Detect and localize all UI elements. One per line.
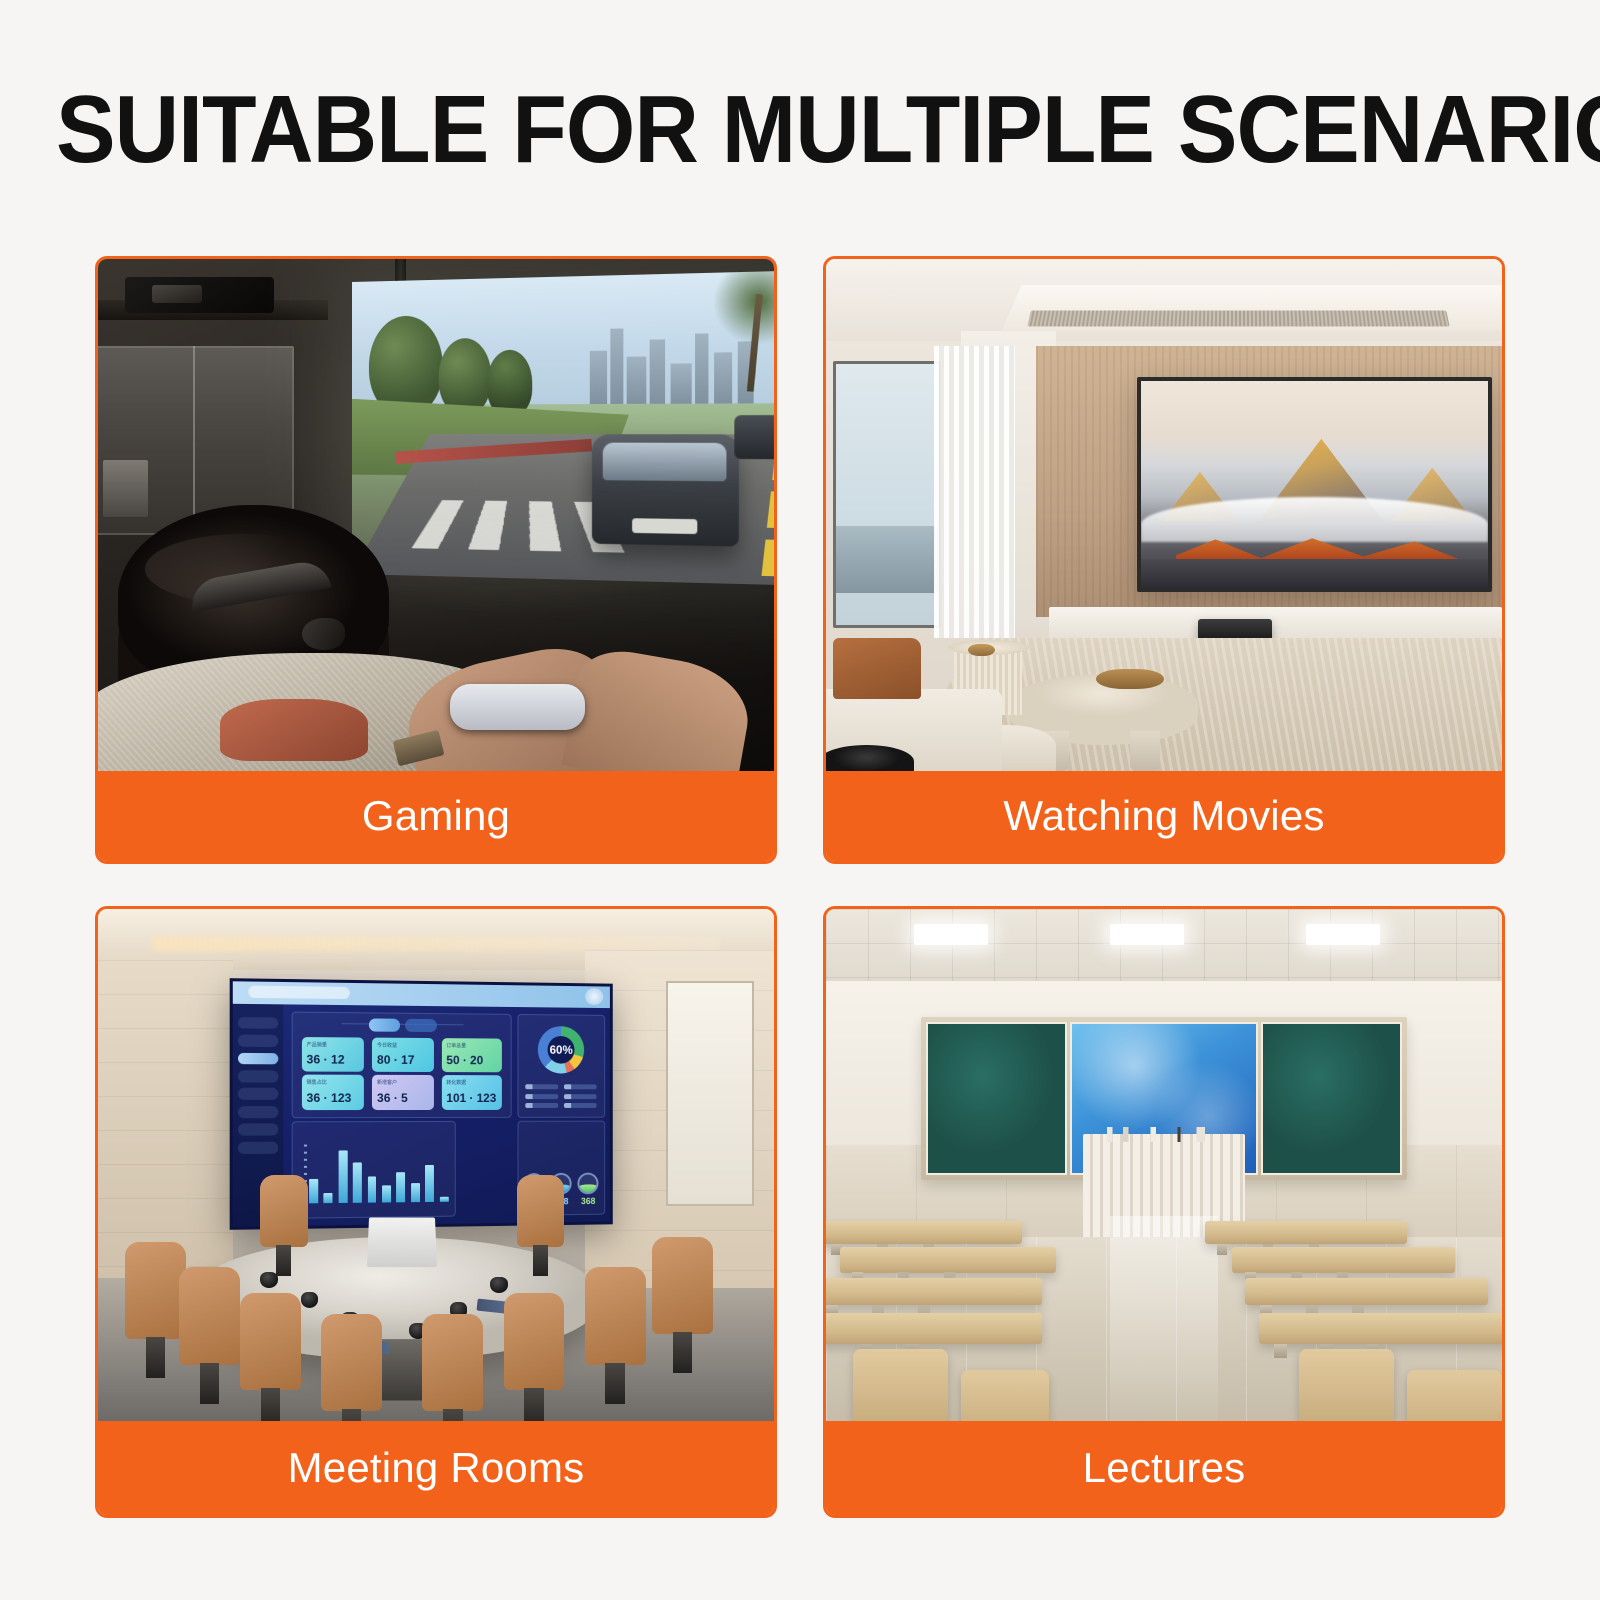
kpi-card: 转化数据 101 · 123 — [442, 1075, 503, 1110]
dashboard-avatar[interactable] — [585, 988, 603, 1004]
office-chair — [125, 1242, 186, 1339]
office-chair — [504, 1293, 565, 1390]
scenario-label-gaming: Gaming — [98, 771, 774, 861]
tab-inactive[interactable] — [406, 1018, 438, 1032]
bar — [397, 1172, 406, 1202]
kpi-value: 50 · 20 — [447, 1053, 484, 1067]
mug — [260, 1272, 278, 1288]
bar — [440, 1196, 449, 1202]
kpi-label: 销售占比 — [307, 1079, 327, 1086]
tab-active[interactable] — [369, 1018, 401, 1032]
kpi-card: 产品销量 36 · 12 — [302, 1036, 364, 1071]
bar — [339, 1150, 348, 1203]
living-room-scene — [826, 259, 1502, 771]
sheer-curtain — [934, 346, 1015, 638]
kpi-tabs[interactable] — [342, 1018, 464, 1033]
gaming-scene — [98, 259, 774, 771]
legend-entry — [564, 1093, 597, 1098]
office-chair — [585, 1267, 646, 1364]
game-player-car — [591, 434, 738, 546]
student-desk — [1259, 1313, 1502, 1344]
wall-console — [1049, 607, 1502, 643]
student-chair — [961, 1370, 1049, 1421]
classroom-scene — [826, 909, 1502, 1421]
kpi-card: 今日收益 80 · 17 — [372, 1037, 433, 1072]
kpi-grid: 产品销量 36 · 12 今日收益 80 · 17 订单总量 50 · 20 — [302, 1036, 503, 1109]
scenario-card-gaming[interactable]: Gaming — [95, 256, 777, 864]
student-chair — [853, 1349, 948, 1421]
sidebar-item[interactable] — [238, 1088, 279, 1100]
legend-entry — [525, 1093, 558, 1098]
ceiling-tiles — [826, 909, 1502, 991]
lecture-hall-photo — [826, 909, 1502, 1421]
scenario-card-watching-movies[interactable]: Watching Movies — [823, 256, 1505, 864]
legend-entry — [525, 1103, 558, 1108]
sidebar-item[interactable] — [238, 1123, 279, 1135]
bar — [309, 1179, 318, 1204]
kpi-value: 36 · 5 — [377, 1091, 408, 1105]
scenario-label-lectures: Lectures — [826, 1421, 1502, 1515]
student-desk — [840, 1247, 1056, 1273]
gauge-value: 368 — [578, 1196, 599, 1206]
left-wood-wall — [98, 960, 233, 1277]
black-side-table — [826, 745, 914, 771]
gaming-photo — [98, 259, 774, 771]
player-collar — [220, 699, 369, 760]
student-desk — [826, 1278, 1042, 1306]
donut-center-value: 60% — [550, 1043, 573, 1057]
foreground-ridge — [1141, 559, 1488, 588]
player-right-arm — [562, 644, 756, 771]
dashboard-search-input[interactable] — [249, 985, 350, 999]
kpi-card: 订单总量 50 · 20 — [442, 1037, 503, 1072]
meeting-room-scene: 产品销量 36 · 12 今日收益 80 · 17 订单总量 50 · 20 — [98, 909, 774, 1421]
ceiling-light — [1110, 924, 1184, 944]
dashboard-topbar — [233, 981, 610, 1007]
sidebar-item[interactable] — [238, 1141, 279, 1153]
decor-cup — [968, 644, 995, 656]
legend-entry — [564, 1103, 597, 1108]
shelf-object — [125, 277, 274, 313]
kpi-card: 新增客户 36 · 5 — [372, 1075, 433, 1110]
scenario-grid: Gaming — [95, 256, 1505, 1518]
sidebar-item-active[interactable] — [238, 1052, 279, 1064]
game-traffic-car — [733, 415, 774, 459]
ceiling-vent — [1027, 311, 1450, 327]
kpi-label: 订单总量 — [447, 1042, 467, 1049]
bar — [382, 1185, 391, 1203]
gauge: 368 — [578, 1172, 599, 1205]
scenario-card-meeting-rooms[interactable]: 产品销量 36 · 12 今日收益 80 · 17 订单总量 50 · 20 — [95, 906, 777, 1518]
sidebar-item[interactable] — [238, 1016, 279, 1028]
kpi-panel: 产品销量 36 · 12 今日收益 80 · 17 订单总量 50 · 20 — [292, 1011, 512, 1118]
leather-armchair — [833, 638, 921, 699]
meeting-room-window — [666, 981, 754, 1206]
meeting-room-photo: 产品销量 36 · 12 今日收益 80 · 17 订单总量 50 · 20 — [98, 909, 774, 1421]
kpi-label: 今日收益 — [377, 1041, 397, 1048]
donut-legend — [525, 1084, 597, 1111]
office-chair — [260, 1175, 307, 1247]
chalkboard-right — [1261, 1022, 1402, 1175]
bar-chart-panel — [292, 1120, 456, 1218]
student-desk — [826, 1313, 1042, 1344]
scenario-label-watching-movies: Watching Movies — [826, 771, 1502, 861]
bar — [368, 1176, 377, 1202]
kpi-label: 产品销量 — [307, 1041, 327, 1048]
sidebar-item[interactable] — [238, 1034, 279, 1046]
bar — [425, 1164, 434, 1202]
student-desk — [826, 1221, 1022, 1244]
gauge-orb — [578, 1172, 599, 1194]
kpi-value: 36 · 123 — [307, 1091, 352, 1105]
kpi-value: 80 · 17 — [377, 1053, 414, 1067]
student-desk — [1232, 1247, 1455, 1273]
office-chair — [652, 1237, 713, 1334]
podium-items — [1096, 1127, 1231, 1142]
kpi-card: 销售占比 36 · 123 — [302, 1074, 364, 1109]
bar — [411, 1183, 420, 1202]
office-chair — [422, 1314, 483, 1411]
donut-panel: 60% — [517, 1013, 605, 1117]
office-chair — [179, 1267, 240, 1364]
game-palm-tree — [700, 270, 774, 384]
donut-chart: 60% — [538, 1026, 584, 1074]
sidebar-item[interactable] — [238, 1106, 279, 1118]
legend-entry — [525, 1084, 558, 1089]
headset-microphone — [302, 618, 345, 651]
student-desk — [1245, 1278, 1488, 1306]
game-controller — [450, 684, 585, 730]
kpi-value: 36 · 12 — [307, 1052, 345, 1066]
center-aisle — [1110, 1216, 1218, 1421]
legend-entry — [564, 1084, 597, 1089]
office-chair — [321, 1314, 382, 1411]
bar — [324, 1193, 333, 1204]
sidebar-item[interactable] — [238, 1070, 279, 1082]
office-chair — [240, 1293, 301, 1390]
watching-movies-photo — [826, 259, 1502, 771]
student-chair — [1299, 1349, 1394, 1421]
picture-window — [833, 361, 941, 627]
scenario-label-meeting-rooms: Meeting Rooms — [98, 1421, 774, 1515]
office-chair — [517, 1175, 564, 1247]
page-title: SUITABLE FOR MULTIPLE SCENARIOS — [56, 78, 1544, 182]
kpi-label: 新增客户 — [377, 1079, 397, 1086]
bar-chart — [309, 1144, 448, 1204]
chalkboard-left — [926, 1022, 1067, 1175]
mug — [490, 1277, 508, 1293]
ceiling-light — [1306, 924, 1380, 944]
ceiling-light — [914, 924, 988, 944]
projected-game-screen — [352, 270, 775, 585]
kpi-value: 101 · 123 — [447, 1091, 497, 1105]
projection-screen — [1137, 377, 1492, 592]
bar — [353, 1162, 362, 1203]
kpi-label: 转化数据 — [447, 1079, 467, 1086]
scenario-card-lectures[interactable]: Lectures — [823, 906, 1505, 1518]
student-chair — [1407, 1370, 1502, 1421]
laptop — [367, 1218, 437, 1268]
wooden-bowl — [1096, 669, 1164, 689]
game-tree — [487, 350, 532, 416]
student-desk — [1205, 1221, 1408, 1244]
